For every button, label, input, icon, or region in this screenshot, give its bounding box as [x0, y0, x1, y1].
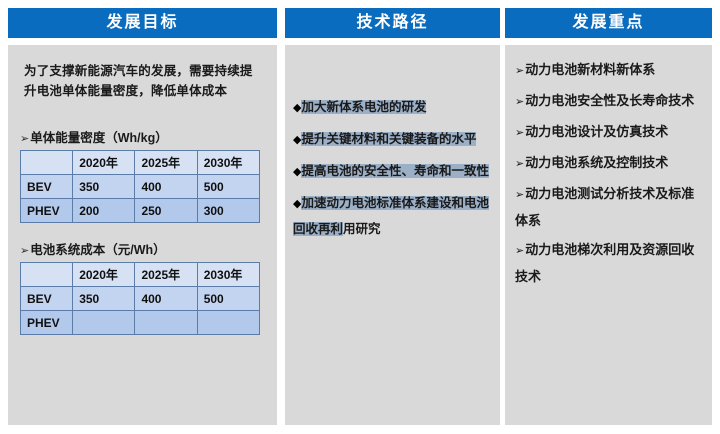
cell-2020: 350 — [73, 175, 135, 199]
arrow-bullet-icon: ➢ — [515, 189, 524, 201]
cell-2025: 400 — [135, 287, 197, 311]
slide-root: 发展目标 为了支撑新能源汽车的发展，需要持续提升电池单体能量密度，降低单体成本 … — [0, 0, 720, 434]
th-blank — [21, 151, 73, 175]
focus-item-text: 动力电池测试分析技术及标准体系 — [515, 186, 694, 228]
cell-2030 — [197, 311, 259, 335]
focus-item-text: 动力电池梯次利用及资源回收技术 — [515, 242, 694, 284]
cell-2030: 300 — [197, 199, 259, 223]
th-2025: 2025年 — [135, 151, 197, 175]
system-cost-table: 2020年 2025年 2030年 BEV 350 400 500 PHEV — [20, 262, 260, 335]
tech-path-list: ◆加大新体系电池的研发 ◆提升关键材料和关键装备的水平 ◆提高电池的安全性、寿命… — [293, 95, 492, 242]
tech-item-text: 提高电池的安全性、寿命和一致性 — [301, 164, 489, 178]
row-label: PHEV — [21, 311, 73, 335]
th-2020: 2020年 — [73, 263, 135, 287]
list-item: ➢动力电池测试分析技术及标准体系 — [515, 181, 704, 233]
column-tech-body: ◆加大新体系电池的研发 ◆提升关键材料和关键装备的水平 ◆提高电池的安全性、寿命… — [285, 45, 500, 425]
cell-2025 — [135, 311, 197, 335]
list-item: ➢动力电池安全性及长寿命技术 — [515, 88, 704, 115]
table-1-title: ➢单体能量密度（Wh/kg） — [20, 127, 267, 146]
cell-2030: 500 — [197, 287, 259, 311]
arrow-bullet-icon: ➢ — [515, 65, 524, 77]
tech-item-text-tail: 用研究 — [343, 222, 381, 236]
goals-intro-text: 为了支撑新能源汽车的发展，需要持续提升电池单体能量密度，降低单体成本 — [24, 61, 265, 101]
list-item: ➢动力电池新材料新体系 — [515, 57, 704, 84]
row-label: BEV — [21, 287, 73, 311]
tech-item-text: 加速动力电池标准体系建设和电池回收再利 — [293, 196, 489, 236]
table-2-title: ➢电池系统成本（元/Wh） — [20, 239, 267, 258]
th-blank — [21, 263, 73, 287]
arrow-bullet-icon: ➢ — [515, 245, 524, 257]
table-header-row: 2020年 2025年 2030年 — [21, 263, 260, 287]
column-goals-header: 发展目标 — [8, 8, 277, 38]
th-2030: 2030年 — [197, 151, 259, 175]
focus-item-text: 动力电池设计及仿真技术 — [525, 124, 668, 139]
list-item: ◆加大新体系电池的研发 — [293, 95, 492, 121]
th-2030: 2030年 — [197, 263, 259, 287]
table-row: PHEV — [21, 311, 260, 335]
focus-item-text: 动力电池安全性及长寿命技术 — [525, 93, 694, 108]
table-row: PHEV 200 250 300 — [21, 199, 260, 223]
cell-2025: 250 — [135, 199, 197, 223]
tech-item-text: 提升关键材料和关键装备的水平 — [301, 132, 476, 146]
focus-item-text: 动力电池新材料新体系 — [525, 62, 655, 77]
list-item: ◆提升关键材料和关键装备的水平 — [293, 127, 492, 153]
cell-2020: 200 — [73, 199, 135, 223]
list-item: ◆提高电池的安全性、寿命和一致性 — [293, 159, 492, 185]
th-2020: 2020年 — [73, 151, 135, 175]
list-item: ➢动力电池系统及控制技术 — [515, 150, 704, 177]
arrow-bullet-icon: ➢ — [20, 133, 29, 145]
row-label: PHEV — [21, 199, 73, 223]
arrow-bullet-icon: ➢ — [515, 127, 524, 139]
column-focus: 发展重点 ➢动力电池新材料新体系 ➢动力电池安全性及长寿命技术 ➢动力电池设计及… — [505, 8, 712, 425]
arrow-bullet-icon: ➢ — [515, 158, 524, 170]
energy-density-table: 2020年 2025年 2030年 BEV 350 400 500 PHEV 2… — [20, 150, 260, 223]
cell-2025: 400 — [135, 175, 197, 199]
list-item: ◆加速动力电池标准体系建设和电池回收再利用研究 — [293, 191, 492, 242]
table-header-row: 2020年 2025年 2030年 — [21, 151, 260, 175]
tech-item-text: 加大新体系电池的研发 — [301, 100, 426, 114]
column-tech: 技术路径 ◆加大新体系电池的研发 ◆提升关键材料和关键装备的水平 ◆提高电池的安… — [285, 8, 500, 425]
table-2-title-text: 电池系统成本（元/Wh） — [30, 243, 165, 257]
focus-list: ➢动力电池新材料新体系 ➢动力电池安全性及长寿命技术 ➢动力电池设计及仿真技术 … — [515, 57, 704, 289]
cell-2020: 350 — [73, 287, 135, 311]
column-goals-body: 为了支撑新能源汽车的发展，需要持续提升电池单体能量密度，降低单体成本 ➢单体能量… — [8, 45, 277, 425]
arrow-bullet-icon: ➢ — [20, 245, 29, 257]
table-1-title-text: 单体能量密度（Wh/kg） — [30, 131, 168, 145]
row-label: BEV — [21, 175, 73, 199]
focus-item-text: 动力电池系统及控制技术 — [525, 155, 668, 170]
list-item: ➢动力电池梯次利用及资源回收技术 — [515, 237, 704, 289]
column-focus-body: ➢动力电池新材料新体系 ➢动力电池安全性及长寿命技术 ➢动力电池设计及仿真技术 … — [505, 45, 712, 425]
column-tech-header: 技术路径 — [285, 8, 500, 38]
list-item: ➢动力电池设计及仿真技术 — [515, 119, 704, 146]
arrow-bullet-icon: ➢ — [515, 96, 524, 108]
column-goals: 发展目标 为了支撑新能源汽车的发展，需要持续提升电池单体能量密度，降低单体成本 … — [8, 8, 277, 425]
th-2025: 2025年 — [135, 263, 197, 287]
cell-2020 — [73, 311, 135, 335]
table-row: BEV 350 400 500 — [21, 175, 260, 199]
column-focus-header: 发展重点 — [505, 8, 712, 38]
table-row: BEV 350 400 500 — [21, 287, 260, 311]
cell-2030: 500 — [197, 175, 259, 199]
